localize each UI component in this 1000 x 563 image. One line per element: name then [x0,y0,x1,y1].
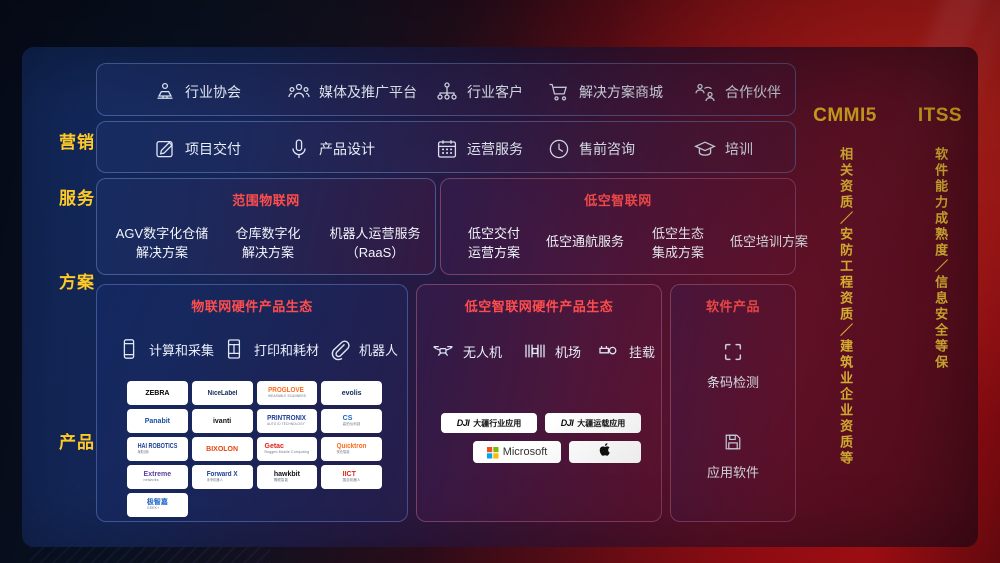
brand-dji-enterprise[interactable]: DJI 大疆行业应用 [441,413,537,433]
marketing-item-label: 行业协会 [185,82,241,102]
partner-logo-name: NiceLabel [207,390,237,397]
product-item-label: 挂载 [629,342,655,361]
dji-wordmark: DJI [457,418,470,428]
partner-logo-name: Panabit [145,418,170,425]
partner-logo[interactable]: hawkbit鹰眼智能 [257,465,318,489]
product-item-label: 机场 [555,342,581,361]
service-item-presales-consulting[interactable]: 售前咨询 [547,137,635,161]
marketing-item-media-promotion[interactable]: 媒体及推广平台 [287,80,417,104]
tablet-device-icon [117,337,141,361]
brand-label: 大疆运载应用 [577,418,625,429]
partner-logo[interactable]: PRINTRONIXAUTO ID TECHNOLOGY [257,409,318,433]
certification-title: ITSS [918,105,962,127]
partner-logo-name: evolis [342,390,362,397]
service-item-label: 售前咨询 [579,139,635,159]
partner-logo[interactable]: BIXOLON [192,437,253,461]
product-item-robots[interactable]: 机器人 [327,337,398,361]
solution-cell[interactable]: 低空通航服务 [537,233,633,252]
partner-logo-name: PROGLOVEWEARABLE SCANNERS [268,387,306,398]
marketing-item-label: 行业客户 [467,82,523,102]
certification-title: CMMI5 [813,105,877,127]
product-item-compute-capture[interactable]: 计算和采集 [117,337,214,361]
slide-canvas: 营销 服务 方案 产品 行业协会 媒体及推广平台 行业客户 解决方案商城 [0,0,1000,563]
people-group-icon [287,80,311,104]
certification-vertical-text: 软件能力成熟度／信息安全等保 [932,147,948,467]
partner-logo-subtitle: AUTO ID TECHNOLOGY [267,423,306,426]
product-group-lowaltitude-hardware-title: 低空智联网硬件产品生态 [417,296,661,315]
partner-logo-subtitle: 高拍仪科技 [343,423,361,426]
service-item-label: 产品设计 [319,139,375,159]
product-group-iot-hardware-title: 物联网硬件产品生态 [97,296,407,315]
marketing-item-partners[interactable]: 合作伙伴 [693,80,781,104]
drone-icon [431,339,455,363]
partner-logo-name: Forward X未来机器人 [207,471,238,482]
partner-logo-name: CS高拍仪科技 [343,415,361,426]
partner-logo-subtitle: Rugged Mobile Computing [265,451,310,454]
partner-logo-subtitle: networks [144,479,172,482]
solution-group-iot-title: 范围物联网 [97,190,435,209]
partner-logo[interactable]: evolis [321,381,382,405]
partner-logo-name: ZEBRA [145,390,169,397]
handshake-partners-icon [693,80,717,104]
brand-microsoft[interactable]: Microsoft [473,441,561,463]
partner-logo[interactable]: 极智嘉GEEK+ [127,493,188,517]
partner-logo[interactable]: GetacRugged Mobile Computing [257,437,318,461]
partner-logo-grid: ZEBRANiceLabelPROGLOVEWEARABLE SCANNERSe… [127,381,382,517]
dock-airport-icon [523,339,547,363]
partner-logo-subtitle: GEEK+ [147,507,168,510]
floppy-disk-icon [671,431,795,453]
service-item-operations[interactable]: 运营服务 [435,137,523,161]
partner-logo-name: ivanti [213,418,231,425]
partner-logo-name: Quicktron快仓智能 [337,443,367,454]
certification-column-itss: ITSS 软件能力成熟度／信息安全等保 [895,47,985,547]
brand-apple[interactable] [569,441,641,463]
marketing-item-label: 合作伙伴 [725,82,781,102]
product-item-dock-airport[interactable]: 机场 [523,339,581,363]
shopping-cart-icon [547,80,571,104]
service-item-product-design[interactable]: 产品设计 [287,137,375,161]
product-item-label: 计算和采集 [149,340,214,359]
product-item-print-consumables[interactable]: 打印和耗材 [222,337,319,361]
service-item-training[interactable]: 培训 [693,137,753,161]
solution-group-lowaltitude-title: 低空智联网 [441,190,795,209]
software-item-label: 条码检测 [707,375,759,390]
clock-icon [547,137,571,161]
partner-logo-name: HAI ROBOTICS海柔创新 [137,443,177,454]
brand-label: Microsoft [503,446,548,458]
partner-logo[interactable]: ZEBRA [127,381,188,405]
product-item-drone[interactable]: 无人机 [431,339,502,363]
marketing-item-solution-mall[interactable]: 解决方案商城 [547,80,663,104]
partner-logo-name: hawkbit鹰眼智能 [274,471,300,482]
partner-logo-subtitle: 快仓智能 [337,451,367,454]
apple-logo-icon [598,442,613,462]
partner-logo[interactable]: Forward X未来机器人 [192,465,253,489]
dji-wordmark: DJI [561,418,574,428]
partner-logo-name: 极智嘉GEEK+ [147,499,168,510]
partner-logo-subtitle: 海柔创新 [137,451,177,454]
service-item-label: 培训 [725,139,753,159]
marketing-item-label: 解决方案商城 [579,82,663,102]
microphone-icon [287,137,311,161]
partner-logo[interactable]: IICT国自机器人 [321,465,382,489]
partner-logo-subtitle: WEARABLE SCANNERS [268,395,306,398]
org-network-icon [435,80,459,104]
barcode-scan-frame-icon [671,341,795,363]
solution-cell[interactable]: 低空交付 运营方案 [453,225,535,263]
partner-logo-subtitle: 未来机器人 [207,479,238,482]
solution-cell[interactable]: 仓库数字化 解决方案 [221,225,315,263]
partner-logo-name: IICT国自机器人 [343,471,361,482]
marketing-row-card: 行业协会 媒体及推广平台 行业客户 解决方案商城 合作伙伴 [96,63,796,116]
partner-logo[interactable]: PROGLOVEWEARABLE SCANNERS [257,381,318,405]
calendar-grid-icon [435,137,459,161]
partner-logo[interactable]: CS高拍仪科技 [321,409,382,433]
software-item-application-software[interactable]: 应用软件 [671,431,795,481]
partner-logo[interactable]: Extremenetworks [127,465,188,489]
podium-speaker-icon [153,80,177,104]
payload-gimbal-icon [597,339,621,363]
brand-label: 大疆行业应用 [473,418,521,429]
partner-logo-subtitle: 国自机器人 [343,479,361,482]
product-group-software-title: 软件产品 [671,296,795,315]
solution-cell[interactable]: AGV数字化仓储 解决方案 [107,225,217,263]
marketing-item-industry-customers[interactable]: 行业客户 [435,80,523,104]
partner-logo-name: GetacRugged Mobile Computing [265,443,310,454]
certification-column-cmmi5: CMMI5 相关资质／安防工程资质／建筑业企业资质等 [800,47,890,547]
certification-vertical-text: 相关资质／安防工程资质／建筑业企业资质等 [837,147,853,467]
service-item-project-delivery[interactable]: 项目交付 [153,137,241,161]
solution-group-iot-card: 范围物联网 AGV数字化仓储 解决方案 仓库数字化 解决方案 机器人运营服务 （… [96,178,436,275]
microsoft-squares-icon [487,446,499,458]
solution-cell[interactable]: 机器人运营服务 （RaaS） [319,225,431,263]
product-group-lowaltitude-hardware-card: 低空智联网硬件产品生态 无人机 机场 挂载 DJI 大疆行业应用 DJI 大疆运… [416,284,662,522]
solution-group-lowaltitude-card: 低空智联网 低空交付 运营方案 低空通航服务 低空生态 集成方案 低空培训方案 [440,178,796,275]
partner-logo[interactable]: NiceLabel [192,381,253,405]
service-item-label: 项目交付 [185,139,241,159]
partner-logo-subtitle: 鹰眼智能 [274,479,300,482]
product-item-label: 无人机 [463,342,502,361]
paperclip-robot-icon [327,337,351,361]
product-item-label: 机器人 [359,340,398,359]
printer-ribbon-icon [222,337,246,361]
graduation-cap-icon [693,137,717,161]
partner-logo[interactable]: Panabit [127,409,188,433]
product-item-payload[interactable]: 挂载 [597,339,655,363]
product-group-software-card: 软件产品 条码检测 应用软件 [670,284,796,522]
partner-logo-name: PRINTRONIXAUTO ID TECHNOLOGY [267,415,306,426]
partner-logo[interactable]: HAI ROBOTICS海柔创新 [127,437,188,461]
partner-logo-name: Extremenetworks [144,471,172,482]
service-row-card: 项目交付 产品设计 运营服务 售前咨询 培训 [96,121,796,173]
service-item-label: 运营服务 [467,139,523,159]
partner-logo-name: BIXOLON [206,446,238,453]
marketing-item-industry-association[interactable]: 行业协会 [153,80,241,104]
product-group-iot-hardware-card: 物联网硬件产品生态 计算和采集 打印和耗材 机器人 ZEBRANiceLabel… [96,284,408,522]
software-item-barcode-detection[interactable]: 条码检测 [671,341,795,391]
partner-logo[interactable]: Quicktron快仓智能 [321,437,382,461]
solution-cell[interactable]: 低空生态 集成方案 [637,225,719,263]
partner-logo[interactable]: ivanti [192,409,253,433]
product-item-label: 打印和耗材 [254,340,319,359]
software-item-label: 应用软件 [707,465,759,480]
brand-dji-delivery[interactable]: DJI 大疆运载应用 [545,413,641,433]
pencil-square-icon [153,137,177,161]
marketing-item-label: 媒体及推广平台 [319,82,417,102]
